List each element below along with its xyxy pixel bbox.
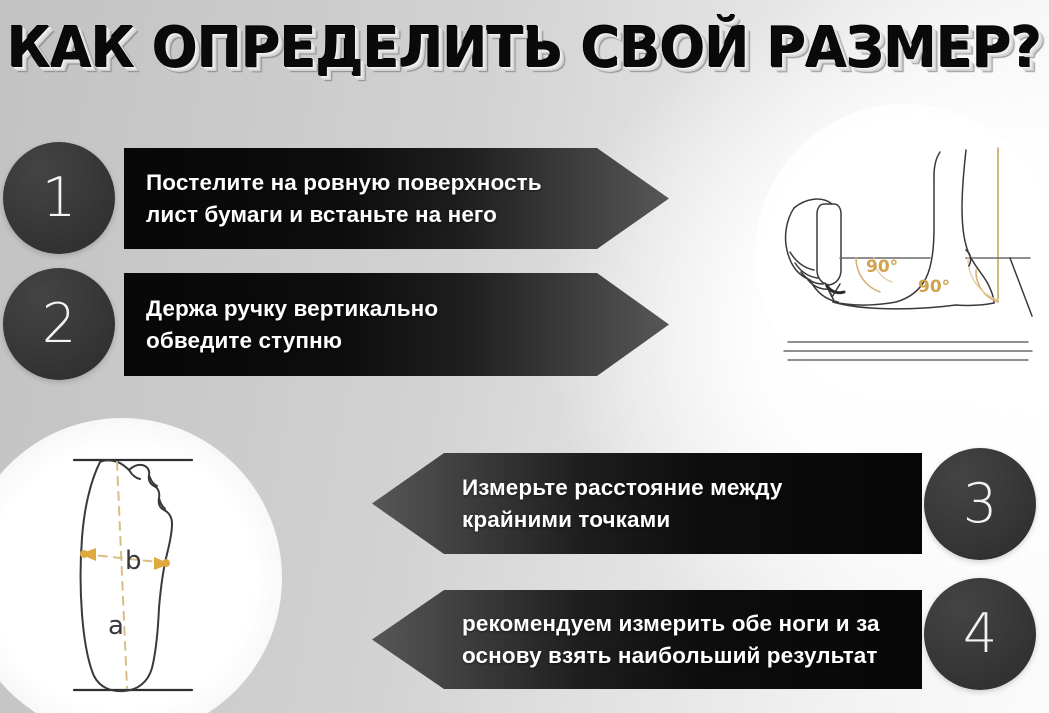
angle-label-top-right: 90° [918, 277, 950, 297]
infographic-canvas: КАК ОПРЕДЕЛИТЬ СВОЙ РАЗМЕР? 1 Постелите … [0, 0, 1049, 713]
step-badge-1: 1 [3, 142, 115, 254]
length-label-a: a [108, 611, 124, 641]
step-badge-2: 2 [3, 268, 115, 380]
step-number-4: 4 [963, 607, 997, 661]
step-banner-1: Постелите на ровную поверхность лист бум… [124, 148, 669, 249]
step-text-2: Держа ручку вертикально обведите ступню [124, 293, 438, 355]
page-title: КАК ОПРЕДЕЛИТЬ СВОЙ РАЗМЕР? [0, 16, 1049, 81]
step-banner-3: Измерьте расстояние между крайними точка… [372, 453, 922, 554]
width-label-b: b [125, 546, 142, 576]
step-text-1: Постелите на ровную поверхность лист бум… [124, 167, 542, 229]
foot-outline-measurement-illustration: b a [22, 438, 272, 710]
step-number-2: 2 [42, 297, 76, 351]
hand-tracing-foot-illustration: 90° 90° [770, 120, 1045, 390]
step-banner-4: рекомендуем измерить обе ноги и за основ… [372, 590, 922, 689]
step-banner-2: Держа ручку вертикально обведите ступню [124, 273, 669, 376]
step-number-1: 1 [42, 171, 76, 225]
step-badge-4: 4 [924, 578, 1036, 690]
step-text-4: рекомендуем измерить обе ноги и за основ… [372, 608, 880, 670]
step-text-3: Измерьте расстояние между крайними точка… [372, 472, 783, 534]
angle-label-top-left: 90° [866, 257, 898, 277]
step-number-3: 3 [963, 477, 997, 531]
step-badge-3: 3 [924, 448, 1036, 560]
